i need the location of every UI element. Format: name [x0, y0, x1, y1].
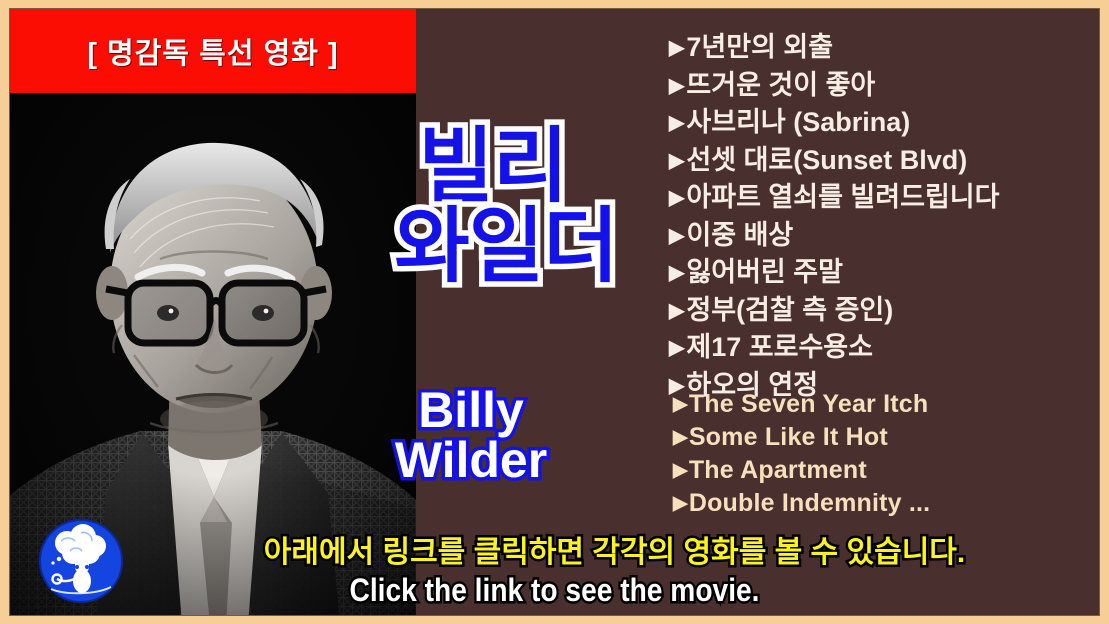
film-title-ko: 제17 포로수용소: [686, 330, 873, 365]
list-item[interactable]: ▶ 뜨거운 것이 좋아: [669, 68, 1100, 106]
list-item[interactable]: ▶ The Apartment: [673, 455, 1100, 488]
banner-label: [ 명감독 특선 영화 ]: [87, 30, 338, 72]
list-item[interactable]: ▶ 정부(검찰 측 증인): [669, 293, 1100, 331]
triangle-bullet-icon: ▶: [673, 489, 688, 519]
film-title-ko: 뜨거운 것이 좋아: [686, 68, 875, 103]
triangle-bullet-icon: ▶: [669, 331, 684, 366]
triangle-bullet-icon: ▶: [669, 294, 684, 329]
film-title-en: Some Like It Hot: [689, 422, 888, 452]
triangle-bullet-icon: ▶: [669, 106, 684, 141]
list-item[interactable]: ▶ 제17 포로수용소: [669, 330, 1100, 368]
triangle-bullet-icon: ▶: [669, 181, 684, 216]
film-list-korean: ▶ 7년만의 외출 ▶ 뜨거운 것이 좋아 ▶ 사브리나 (Sabrina) ▶…: [669, 30, 1100, 405]
triangle-bullet-icon: ▶: [669, 256, 684, 291]
film-title-ko: 7년만의 외출: [686, 30, 833, 65]
title-banner: [ 명감독 특선 영화 ]: [10, 9, 416, 93]
list-item[interactable]: ▶ 사브리나 (Sabrina): [669, 105, 1100, 143]
film-title-ko: 선셋 대로(Sunset Blvd): [686, 143, 967, 178]
film-title-en: Double Indemnity ...: [689, 488, 931, 518]
film-title-ko: 아파트 열쇠를 빌려드립니다: [686, 180, 999, 215]
callout-english: Click the link to see the movie.: [75, 572, 1033, 609]
film-title-ko: 이중 배상: [686, 218, 793, 253]
film-title-ko: 정부(검찰 측 증인): [686, 293, 893, 328]
triangle-bullet-icon: ▶: [673, 423, 688, 453]
film-list-english: ▶ The Seven Year Itch ▶ Some Like It Hot…: [673, 389, 1100, 521]
list-item[interactable]: ▶ 이중 배상: [669, 218, 1100, 256]
list-item[interactable]: ▶ Double Indemnity ...: [673, 488, 1100, 521]
list-item[interactable]: ▶ 잃어버린 주말: [669, 255, 1100, 293]
film-title-ko: 사브리나 (Sabrina): [686, 105, 910, 140]
video-thumbnail-poster: [ 명감독 특선 영화 ]: [0, 0, 1109, 624]
list-item[interactable]: ▶ 아파트 열쇠를 빌려드립니다: [669, 180, 1100, 218]
list-item[interactable]: ▶ 7년만의 외출: [669, 30, 1100, 68]
list-item[interactable]: ▶ Some Like It Hot: [673, 422, 1100, 455]
list-item[interactable]: ▶ 선셋 대로(Sunset Blvd): [669, 143, 1100, 181]
triangle-bullet-icon: ▶: [669, 69, 684, 104]
triangle-bullet-icon: ▶: [669, 31, 684, 66]
list-item[interactable]: ▶ The Seven Year Itch: [673, 389, 1100, 422]
film-title-en: The Seven Year Itch: [689, 389, 929, 419]
triangle-bullet-icon: ▶: [673, 390, 688, 420]
film-title-ko: 잃어버린 주말: [686, 255, 843, 290]
callout-korean: 아래에서 링크를 클릭하면 각각의 영화를 볼 수 있습니다.: [10, 527, 1099, 571]
poster-stage: [ 명감독 특선 영화 ]: [9, 8, 1100, 616]
triangle-bullet-icon: ▶: [669, 144, 684, 179]
film-title-en: The Apartment: [689, 455, 867, 485]
left-column: [ 명감독 특선 영화 ]: [10, 9, 416, 615]
triangle-bullet-icon: ▶: [669, 219, 684, 254]
triangle-bullet-icon: ▶: [673, 456, 688, 486]
